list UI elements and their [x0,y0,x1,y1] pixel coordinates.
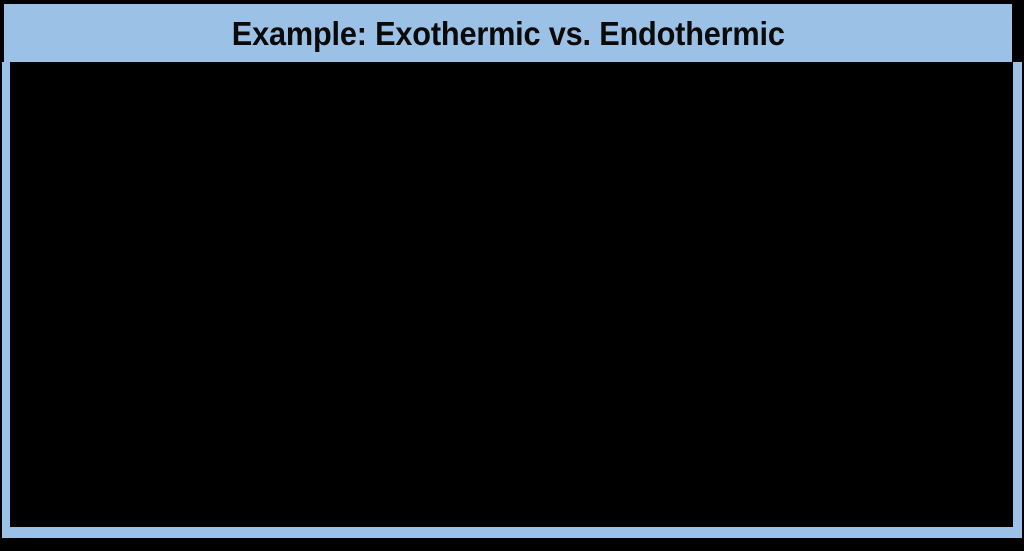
slide-body-text [10,62,1013,527]
slide-title: Example: Exothermic vs. Endothermic [232,17,785,50]
frame-border-right [1013,62,1022,538]
slide-content-frame [2,62,1022,538]
slide-content-area [10,62,1013,527]
slide-root: Example: Exothermic vs. Endothermic [0,0,1024,551]
slide-title-bar: Example: Exothermic vs. Endothermic [4,4,1012,62]
frame-border-bottom [2,527,1022,538]
frame-border-left [2,62,10,538]
